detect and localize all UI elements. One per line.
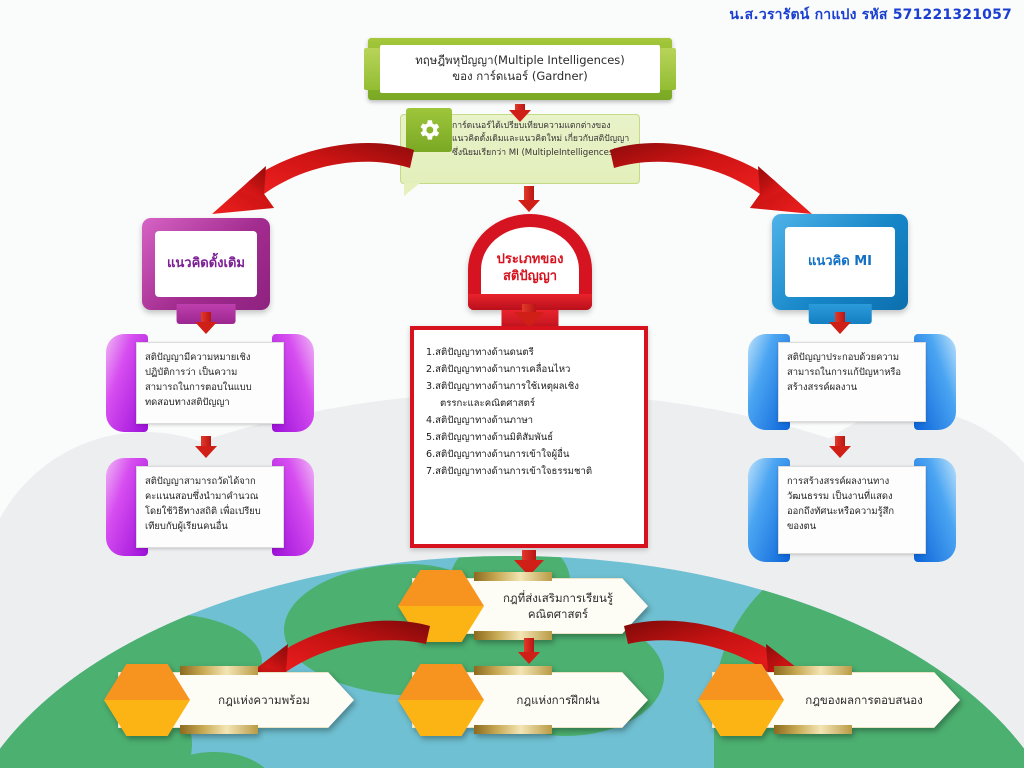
title-inner: ทฤษฎีพหุปัญญา(Multiple Intelligences) ขอ…	[380, 45, 660, 93]
banner-label: กฎที่ส่งเสริมการเรียนรู้ คณิตศาสตร์	[498, 578, 618, 634]
right-box-1-text: สติปัญญาประกอบด้วยความ สามารถในการแก้ปัญ…	[778, 342, 926, 422]
arrow-left-header-to-box1	[195, 312, 217, 334]
text-line: ทดสอบทางสติปัญญา	[145, 395, 275, 410]
right-box-2: การสร้างสรรค์ผลงานทาง วัฒนธรรม เป็นงานที…	[748, 458, 956, 562]
title-tab-left	[364, 48, 380, 90]
page-title-line2: ของ การ์ดเนอร์ (Gardner)	[415, 69, 625, 85]
header-label: แนวคิดดั้งเดิม	[155, 231, 257, 297]
list-item: 6.สติปัญญาทางด้านการเข้าใจผู้อื่น	[426, 446, 634, 463]
curved-arrow-to-left-column	[178, 128, 418, 220]
banner-label: กฎแห่งการฝึกฝน	[498, 672, 618, 728]
left-box-2: สติปัญญาสามารถวัดได้จาก คะแนนสอบซึ่งนำมา…	[106, 458, 314, 556]
arrow-callout-to-center-header	[518, 186, 540, 212]
list-item: 7.สติปัญญาทางด้านการเข้าใจธรรมชาติ	[426, 463, 634, 480]
curved-arrow-to-right-column	[606, 128, 846, 220]
banner-label-line1: กฎที่ส่งเสริมการเรียนรู้	[503, 590, 613, 606]
text-line: เทียบกับผู้เรียนคนอื่น	[145, 519, 275, 534]
header-label: ประเภทของ สติปัญญา	[468, 252, 592, 286]
infographic-canvas: น.ส.วรารัตน์ กาแปง รหัส 571221321057 ทฤษ…	[0, 0, 1024, 768]
right-box-1: สติปัญญาประกอบด้วยความ สามารถในการแก้ปัญ…	[748, 334, 956, 430]
title-tab-right	[660, 48, 676, 90]
text-line: โดยใช้วิธีทางสถิติ เพื่อเปรียบ	[145, 504, 275, 519]
page-title-line1: ทฤษฎีพหุปัญญา(Multiple Intelligences)	[415, 53, 625, 69]
header-intelligence-types[interactable]: ประเภทของ สติปัญญา	[468, 214, 592, 310]
arrow-right-box1-to-box2	[829, 436, 851, 458]
text-line: สามารถในการตอบในแบบ	[145, 380, 275, 395]
text-line: ของตน	[787, 519, 917, 534]
law-banner-3[interactable]: กฎของผลการตอบสนอง	[712, 672, 960, 728]
intelligence-types-panel: 1.สติปัญญาทางด้านดนตรี 2.สติปัญญาทางด้าน…	[410, 326, 648, 548]
text-line: การสร้างสรรค์ผลงานทาง	[787, 474, 917, 489]
text-line: คะแนนสอบซึ่งนำมาคำนวณ	[145, 489, 275, 504]
arrow-title-to-callout	[509, 104, 531, 122]
author-credit: น.ส.วรารัตน์ กาแปง รหัส 571221321057	[729, 4, 1012, 26]
text-line: สามารถในการแก้ปัญหาหรือ	[787, 365, 917, 380]
header-label: แนวคิด MI	[785, 227, 895, 297]
right-box-2-text: การสร้างสรรค์ผลงานทาง วัฒนธรรม เป็นงานที…	[778, 466, 926, 554]
text-line: สติปัญญามีความหมายเชิง	[145, 350, 275, 365]
list-item: 3.สติปัญญาทางด้านการใช้เหตุผลเชิง ตรรกะแ…	[426, 378, 634, 412]
left-box-1-text: สติปัญญามีความหมายเชิง ปฏิบัติการว่า เป็…	[136, 342, 284, 424]
text-line: สติปัญญาประกอบด้วยความ	[787, 350, 917, 365]
arrow-right-header-to-box1	[829, 312, 851, 334]
text-line: สติปัญญาสามารถวัดได้จาก	[145, 474, 275, 489]
text-line: สร้างสรรค์ผลงาน	[787, 380, 917, 395]
arrow-center-header-to-list	[514, 304, 544, 328]
law-banner-2[interactable]: กฎแห่งการฝึกฝน	[412, 672, 648, 728]
list-item: 4.สติปัญญาทางด้านภาษา	[426, 412, 634, 429]
intro-callout: การ์ดเนอร์ได้เปรียบเทียบความแตกต่างของ แ…	[400, 114, 640, 184]
banner-label: กฎของผลการตอบสนอง	[798, 672, 930, 728]
banner-label-line2: คณิตศาสตร์	[503, 606, 613, 622]
text-line: ปฏิบัติการว่า เป็นความ	[145, 365, 275, 380]
header-label-line1: ประเภทของ	[468, 252, 592, 269]
header-original-concept[interactable]: แนวคิดดั้งเดิม	[142, 218, 270, 310]
law-banner-1[interactable]: กฎแห่งความพร้อม	[118, 672, 354, 728]
left-box-1: สติปัญญามีความหมายเชิง ปฏิบัติการว่า เป็…	[106, 334, 314, 432]
left-box-2-text: สติปัญญาสามารถวัดได้จาก คะแนนสอบซึ่งนำมา…	[136, 466, 284, 548]
law-banner-main[interactable]: กฎที่ส่งเสริมการเรียนรู้ คณิตศาสตร์	[412, 578, 648, 634]
header-mi-concept[interactable]: แนวคิด MI	[772, 214, 908, 310]
list-item: 1.สติปัญญาทางด้านดนตรี	[426, 344, 634, 361]
intelligence-types-list: 1.สติปัญญาทางด้านดนตรี 2.สติปัญญาทางด้าน…	[414, 330, 644, 491]
text-line: วัฒนธรรม เป็นงานที่แสดง	[787, 489, 917, 504]
banner-label: กฎแห่งความพร้อม	[204, 672, 324, 728]
text-line: ออกถึงทัศนะหรือความรู้สึก	[787, 504, 917, 519]
main-title-card: ทฤษฎีพหุปัญญา(Multiple Intelligences) ขอ…	[368, 38, 672, 100]
header-label-line2: สติปัญญา	[468, 269, 592, 286]
list-item: 2.สติปัญญาทางด้านการเคลื่อนไหว	[426, 361, 634, 378]
arrow-main-law-to-law-2	[518, 638, 540, 664]
list-item: 5.สติปัญญาทางด้านมิติสัมพันธ์	[426, 429, 634, 446]
arrow-left-box1-to-box2	[195, 436, 217, 458]
